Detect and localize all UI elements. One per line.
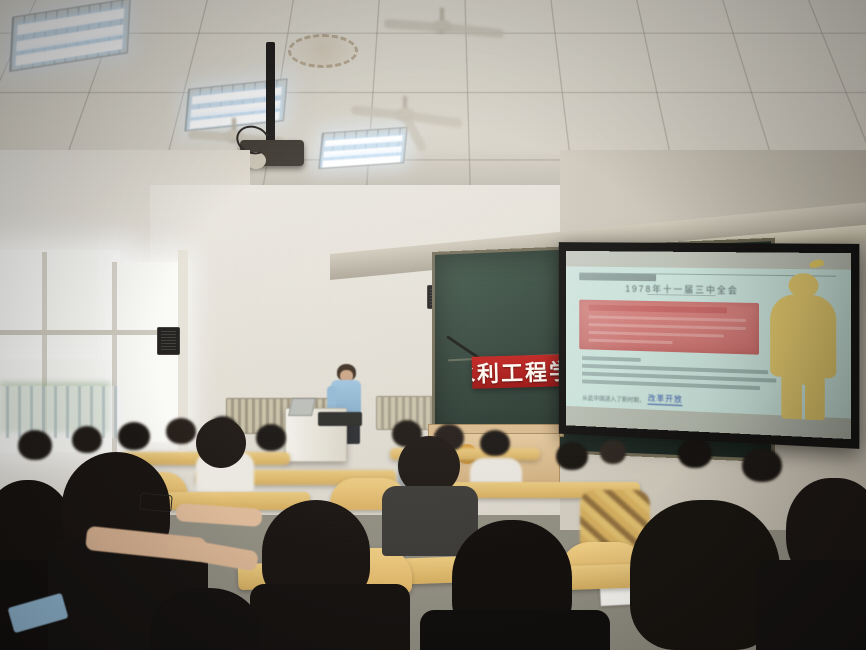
ceiling-fan	[350, 96, 460, 132]
laptop	[288, 398, 316, 416]
slide-keyword: 改革开放	[648, 393, 683, 406]
audience-head	[166, 418, 196, 444]
slide-person-silhouette	[767, 273, 838, 419]
audience-head	[678, 438, 712, 468]
slide-red-box-line	[588, 331, 723, 338]
audience-torso-foreground	[756, 560, 866, 650]
audience-head-foreground	[196, 418, 246, 468]
audience-head	[118, 422, 150, 450]
audience-head	[742, 448, 782, 482]
presentation-slide: 1978年十一届三中全会 从此中国进入了新时期， 改革开放	[566, 251, 851, 439]
podium-desktop	[318, 412, 362, 426]
eyeglasses	[139, 493, 172, 513]
slide-top-band	[566, 251, 851, 270]
audience-head	[556, 442, 588, 470]
slide-title-underline	[648, 294, 716, 296]
slide-red-box-line	[588, 338, 672, 344]
slide-red-box-line	[588, 323, 745, 330]
slide-bullet-lead	[582, 356, 641, 362]
slide-red-box-line	[588, 315, 745, 322]
fluorescent-grid-light	[318, 127, 408, 169]
window-transom	[0, 330, 180, 335]
slide-red-box-heading	[588, 305, 727, 313]
balcony-railing	[0, 386, 122, 438]
projector-mount-pole	[266, 42, 275, 146]
slide-keyword-lead: 从此中国进入了新时期，	[582, 393, 645, 404]
audience-head	[72, 426, 102, 453]
projection-screen: 1978年十一届三中全会 从此中国进入了新时期， 改革开放	[566, 251, 851, 439]
ceiling-rosette	[288, 34, 358, 68]
audience-head	[600, 440, 626, 464]
slide-bullet-block	[582, 356, 785, 395]
ceiling-fan	[382, 8, 502, 42]
slide-header-label	[580, 274, 657, 281]
audience-head	[480, 430, 510, 456]
lecture-hall-photo: 水利工程学院党 1978年十一届三中全会	[0, 0, 866, 650]
audience-torso-foreground	[420, 610, 610, 650]
window-left-upper	[0, 250, 120, 358]
audience-head	[18, 430, 52, 460]
wall-speaker	[157, 327, 180, 355]
audience-torso-foreground	[250, 584, 410, 650]
audience-head-foreground	[150, 588, 260, 650]
audience-head	[256, 424, 286, 451]
slide-red-box	[580, 300, 759, 354]
